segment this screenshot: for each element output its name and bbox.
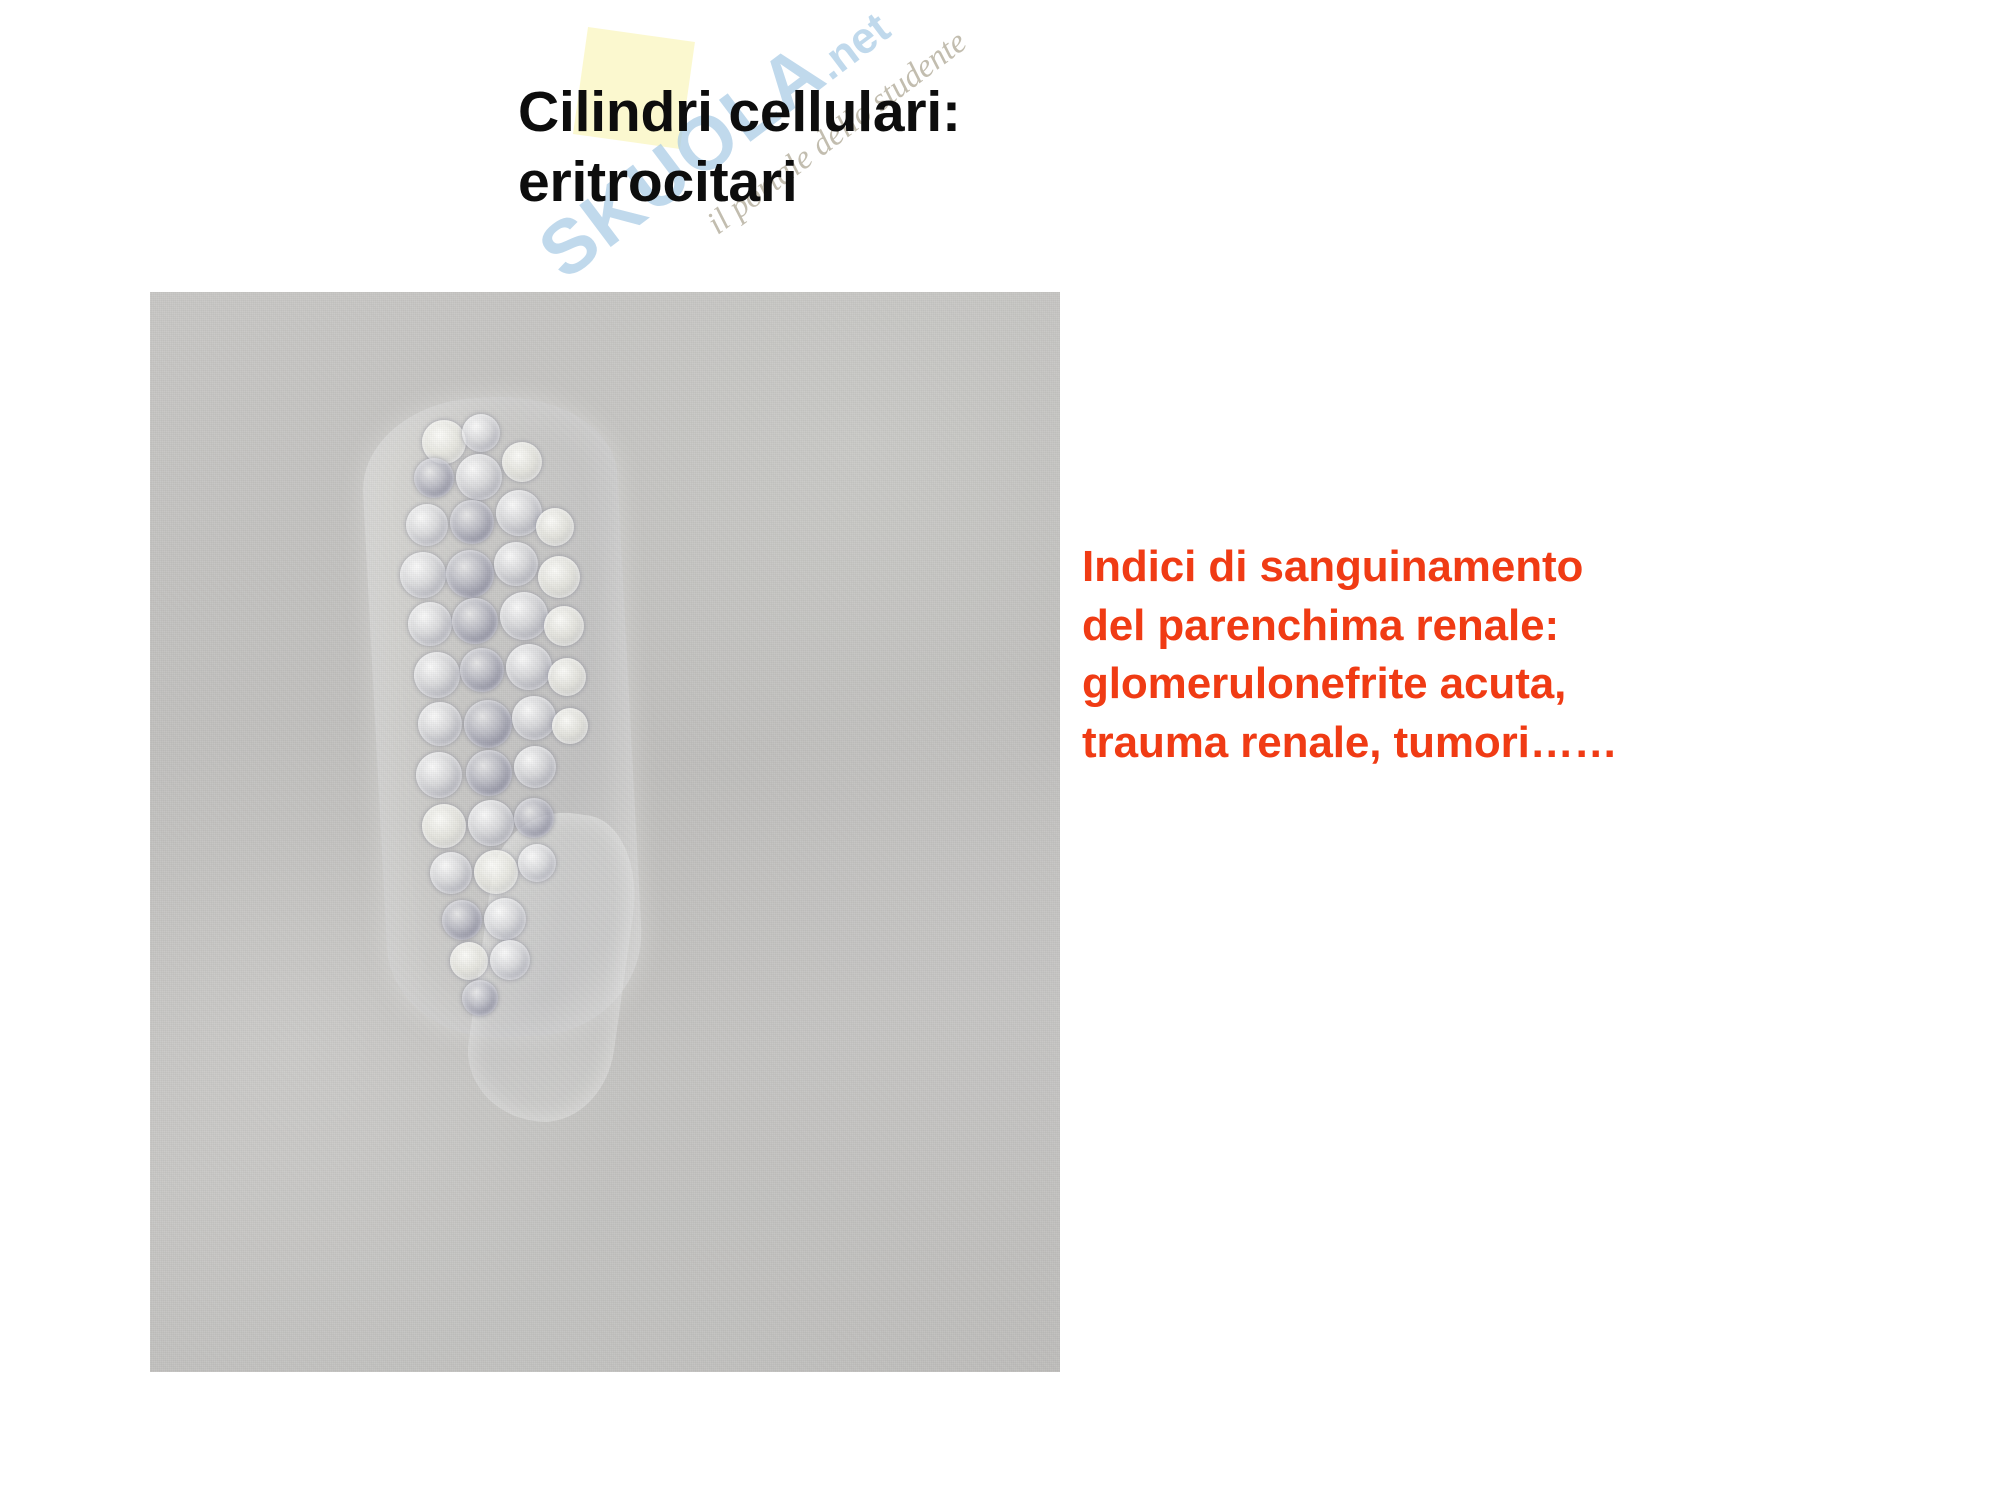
micrograph-grain	[150, 292, 1060, 1372]
body-line-3: glomerulonefrite acuta,	[1082, 655, 1842, 714]
watermark-brand-tld: .net	[807, 3, 899, 89]
body-line-4: trauma renale, tumori……	[1082, 714, 1842, 773]
title-line-1: Cilindri cellulari:	[518, 78, 1298, 148]
title-line-2: eritrocitari	[518, 148, 1298, 218]
micrograph-image	[150, 292, 1060, 1372]
body-text-block: Indici di sanguinamento del parenchima r…	[1082, 538, 1842, 772]
body-line-2: del parenchima renale:	[1082, 597, 1842, 656]
slide-canvas: Cilindri cellulari: eritrocitari	[0, 0, 2000, 1500]
page-title: Cilindri cellulari: eritrocitari	[518, 78, 1298, 217]
body-line-1: Indici di sanguinamento	[1082, 538, 1842, 597]
